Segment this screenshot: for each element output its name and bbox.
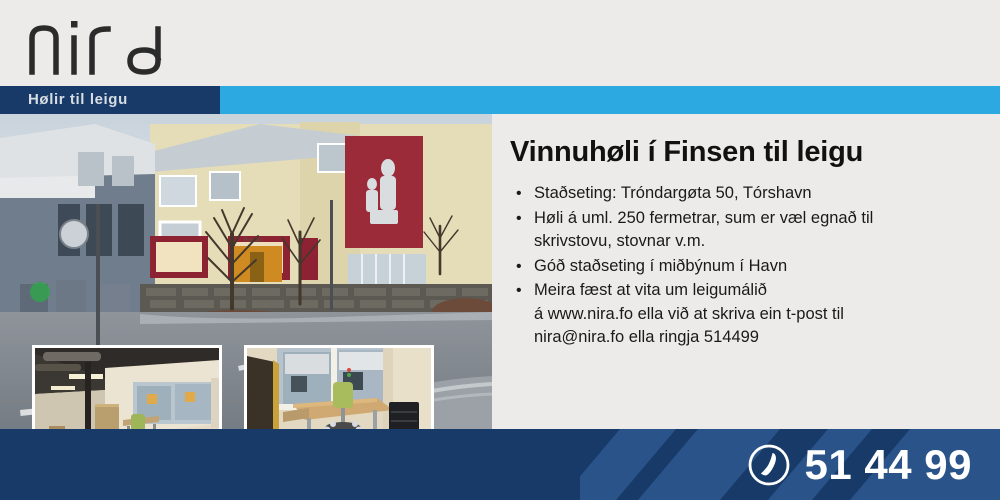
list-item-line: Staðseting: Tróndargøta 50, Tórshavn xyxy=(534,182,988,206)
bullet-icon: • xyxy=(516,279,522,303)
phone-number: 51 44 99 xyxy=(805,441,973,489)
list-item-line: Meira fæst at vita um leigumálið xyxy=(534,279,988,303)
header: nira xyxy=(0,0,1000,86)
bullet-icon: • xyxy=(516,207,522,231)
content-panel: Vinnuhøli í Finsen til leigu • Staðsetin… xyxy=(492,114,1000,429)
list-item-line: á www.nira.fo ella við at skriva ein t-p… xyxy=(534,303,988,327)
page-title: Vinnuhøli í Finsen til leigu xyxy=(510,136,980,169)
list-item-line: Høli á uml. 250 fermetrar, sum er væl eg… xyxy=(534,207,988,231)
phone-contact[interactable]: 51 44 99 xyxy=(747,429,973,500)
list-item-line: skrivstovu, stovnar v.m. xyxy=(534,230,988,254)
phone-handset-icon xyxy=(747,443,791,487)
list-item: • Staðseting: Tróndargøta 50, Tórshavn xyxy=(508,182,988,206)
list-item-line: Góð staðseting í miðbýnum í Havn xyxy=(534,255,988,279)
bullet-icon: • xyxy=(516,182,522,206)
bullet-icon: • xyxy=(516,255,522,279)
list-item-line: nira@nira.fo ella ringja 514499 xyxy=(534,326,988,350)
list-item: • Høli á uml. 250 fermetrar, sum er væl … xyxy=(508,207,988,254)
ribbon-label: Hølir til leigu xyxy=(28,91,128,108)
nira-logo xyxy=(28,16,188,81)
feature-list: • Staðseting: Tróndargøta 50, Tórshavn •… xyxy=(508,182,988,351)
advertisement: nira Hølir til leigu xyxy=(0,0,1000,500)
footer-contact-bar: 51 44 99 xyxy=(0,429,1000,500)
ribbon-bar: Hølir til leigu xyxy=(0,86,1000,114)
list-item: • Góð staðseting í miðbýnum í Havn xyxy=(508,255,988,279)
list-item: • Meira fæst at vita um leigumálið á www… xyxy=(508,279,988,350)
